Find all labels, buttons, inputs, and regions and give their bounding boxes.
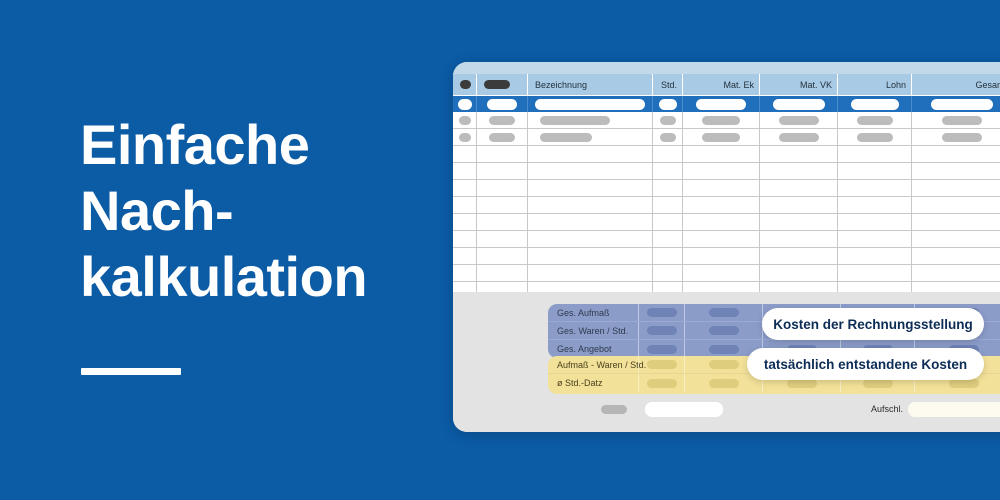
cell-empty[interactable] — [653, 180, 683, 197]
summary-row-label: Ges. Aufmaß — [548, 308, 638, 318]
cell-empty[interactable] — [760, 265, 838, 282]
card-top-strip — [453, 62, 1000, 74]
page-title: Einfache Nach- kalkulation — [80, 112, 430, 310]
cell-empty[interactable] — [477, 214, 528, 231]
selected-cell-mat-vk[interactable] — [760, 96, 838, 112]
table-row-empty[interactable] — [453, 248, 1000, 265]
cell-value-placeholder — [660, 116, 676, 125]
callout-invoicing-costs: Kosten der Rechnungsstellung — [762, 308, 984, 340]
summary-cell-mat-ek[interactable] — [684, 304, 762, 321]
cell-empty[interactable] — [683, 214, 760, 231]
header-cell-icon-sm[interactable] — [453, 74, 477, 96]
cell-icon-sm[interactable] — [453, 112, 477, 129]
row-handle-pill-icon — [484, 80, 510, 89]
table-row-empty[interactable] — [453, 163, 1000, 180]
cell-mat-vk[interactable] — [760, 112, 838, 129]
cell-value-placeholder — [660, 133, 676, 142]
cell-value-placeholder — [459, 133, 471, 142]
cell-value-placeholder — [489, 133, 515, 142]
cell-empty[interactable] — [912, 146, 1000, 163]
cell-empty[interactable] — [760, 180, 838, 197]
cell-empty[interactable] — [683, 248, 760, 265]
title-underline-rule — [81, 368, 181, 375]
cell-value-placeholder — [942, 133, 982, 142]
selected-cell-icon-lg[interactable] — [477, 96, 528, 112]
cell-empty[interactable] — [760, 163, 838, 180]
surcharge-input[interactable] — [908, 402, 1000, 417]
cell-empty[interactable] — [477, 180, 528, 197]
header-cell-gesamt[interactable]: Gesamt — [912, 74, 1000, 96]
cell-value-placeholder — [647, 345, 677, 354]
summary-cell-std[interactable] — [638, 356, 684, 373]
table-row-empty[interactable] — [453, 265, 1000, 282]
cell-mat-ek[interactable] — [683, 112, 760, 129]
cell-empty[interactable] — [760, 197, 838, 214]
cell-empty[interactable] — [760, 214, 838, 231]
cell-value-placeholder — [851, 99, 899, 110]
selected-cell-bezeichnung[interactable] — [528, 96, 653, 112]
cell-empty[interactable] — [453, 180, 477, 197]
cell-empty[interactable] — [838, 163, 912, 180]
cell-empty[interactable] — [760, 231, 838, 248]
cell-empty[interactable] — [838, 231, 912, 248]
spreadsheet-table: Bezeichnung Std. Mat. Ek Mat. VK Lohn Ge… — [453, 74, 1000, 292]
cell-value-placeholder — [942, 116, 982, 125]
summary-cell-std[interactable] — [638, 374, 684, 392]
cell-empty[interactable] — [653, 146, 683, 163]
cell-lohn[interactable] — [838, 129, 912, 146]
cell-empty[interactable] — [912, 180, 1000, 197]
cell-empty[interactable] — [912, 265, 1000, 282]
cell-empty[interactable] — [653, 248, 683, 265]
table-row-empty[interactable] — [453, 180, 1000, 197]
cell-value-placeholder — [773, 99, 825, 110]
cell-value-placeholder — [709, 379, 739, 388]
cell-empty[interactable] — [477, 265, 528, 282]
cell-value-placeholder — [489, 116, 515, 125]
cell-value-placeholder — [535, 99, 645, 110]
cell-bezeichnung[interactable] — [528, 112, 653, 129]
cell-empty[interactable] — [912, 197, 1000, 214]
selected-cell-icon-sm[interactable] — [453, 96, 477, 112]
cell-value-placeholder — [709, 345, 739, 354]
cell-empty[interactable] — [477, 231, 528, 248]
cell-empty[interactable] — [477, 248, 528, 265]
cell-icon-lg[interactable] — [477, 129, 528, 146]
cell-empty[interactable] — [683, 231, 760, 248]
surcharge-label: Aufschl. — [871, 404, 903, 414]
cell-empty[interactable] — [528, 231, 653, 248]
cell-value-placeholder — [647, 326, 677, 335]
cell-empty[interactable] — [453, 265, 477, 282]
cell-empty[interactable] — [528, 197, 653, 214]
cell-value-placeholder — [857, 133, 893, 142]
cell-empty[interactable] — [838, 146, 912, 163]
bottom-value-placeholder — [601, 405, 627, 414]
cell-empty[interactable] — [453, 214, 477, 231]
selected-cell-gesamt[interactable] — [912, 96, 1000, 112]
bottom-total-field[interactable] — [645, 402, 723, 417]
slide-canvas: Einfache Nach- kalkulation Bezeichnung S… — [0, 0, 1000, 500]
cell-bezeichnung[interactable] — [528, 129, 653, 146]
cell-value-placeholder — [702, 116, 740, 125]
cell-empty[interactable] — [760, 248, 838, 265]
cell-empty[interactable] — [477, 197, 528, 214]
cell-empty[interactable] — [683, 180, 760, 197]
cell-empty[interactable] — [653, 265, 683, 282]
cell-empty[interactable] — [453, 197, 477, 214]
summary-row-label: ø Std.-Datz — [548, 378, 638, 388]
cell-empty[interactable] — [838, 197, 912, 214]
cell-empty[interactable] — [528, 163, 653, 180]
cell-empty[interactable] — [838, 214, 912, 231]
cell-empty[interactable] — [528, 146, 653, 163]
header-cell-icon-lg[interactable] — [477, 74, 528, 96]
summary-row-label: Aufmaß - Waren / Std. — [548, 360, 638, 370]
cell-empty[interactable] — [683, 163, 760, 180]
cell-value-placeholder — [459, 116, 471, 125]
table-row[interactable] — [453, 112, 1000, 129]
table-row-empty[interactable] — [453, 231, 1000, 248]
cell-empty[interactable] — [453, 163, 477, 180]
cell-empty[interactable] — [683, 146, 760, 163]
header-cell-lohn[interactable]: Lohn — [838, 74, 912, 96]
summary-row-label: Ges. Waren / Std. — [548, 326, 638, 336]
cell-empty[interactable] — [528, 265, 653, 282]
cell-value-placeholder — [779, 133, 819, 142]
table-row[interactable] — [453, 129, 1000, 146]
selected-cell-std[interactable] — [653, 96, 683, 112]
summary-cell-std[interactable] — [638, 322, 684, 339]
cell-empty[interactable] — [653, 197, 683, 214]
cell-std[interactable] — [653, 129, 683, 146]
cell-empty[interactable] — [453, 146, 477, 163]
cell-empty[interactable] — [912, 231, 1000, 248]
cell-empty[interactable] — [653, 163, 683, 180]
table-header-row: Bezeichnung Std. Mat. Ek Mat. VK Lohn Ge… — [453, 74, 1000, 96]
cell-lohn[interactable] — [838, 112, 912, 129]
cell-empty[interactable] — [653, 214, 683, 231]
cell-empty[interactable] — [528, 180, 653, 197]
cell-value-placeholder — [702, 133, 740, 142]
cell-mat-ek[interactable] — [683, 129, 760, 146]
selected-cell-lohn[interactable] — [838, 96, 912, 112]
cell-mat-vk[interactable] — [760, 129, 838, 146]
cell-empty[interactable] — [477, 146, 528, 163]
selected-row[interactable] — [453, 96, 1000, 112]
cell-value-placeholder — [709, 360, 739, 369]
cell-empty[interactable] — [912, 163, 1000, 180]
cell-value-placeholder — [647, 379, 677, 388]
cell-empty[interactable] — [653, 231, 683, 248]
cell-empty[interactable] — [683, 265, 760, 282]
row-marker-pill-icon — [460, 80, 471, 89]
cell-value-placeholder — [647, 308, 677, 317]
cell-gesamt[interactable] — [912, 112, 1000, 129]
cell-gesamt[interactable] — [912, 129, 1000, 146]
table-row-empty[interactable] — [453, 214, 1000, 231]
cell-value-placeholder — [709, 308, 739, 317]
header-cell-mat-vk[interactable]: Mat. VK — [760, 74, 838, 96]
cell-empty[interactable] — [838, 248, 912, 265]
cell-empty[interactable] — [838, 265, 912, 282]
selected-cell-mat-ek[interactable] — [683, 96, 760, 112]
cell-value-placeholder — [659, 99, 677, 110]
cell-std[interactable] — [653, 112, 683, 129]
header-cell-std[interactable]: Std. — [653, 74, 683, 96]
cell-icon-lg[interactable] — [477, 112, 528, 129]
table-row-empty[interactable] — [453, 146, 1000, 163]
cell-empty[interactable] — [683, 197, 760, 214]
summary-cell-std[interactable] — [638, 304, 684, 321]
header-cell-bezeichnung[interactable]: Bezeichnung — [528, 74, 653, 96]
cell-value-placeholder — [540, 116, 610, 125]
cell-value-placeholder — [709, 326, 739, 335]
cell-value-placeholder — [696, 99, 746, 110]
callout-actual-costs: tatsächlich entstandene Kosten — [747, 348, 984, 380]
cell-empty[interactable] — [760, 146, 838, 163]
cell-value-placeholder — [647, 360, 677, 369]
cell-value-placeholder — [779, 116, 819, 125]
table-row-empty[interactable] — [453, 197, 1000, 214]
cell-empty[interactable] — [838, 180, 912, 197]
cell-value-placeholder — [458, 99, 472, 110]
summary-cell-mat-ek[interactable] — [684, 374, 762, 392]
cell-empty[interactable] — [453, 231, 477, 248]
cell-empty[interactable] — [453, 248, 477, 265]
summary-cell-mat-ek[interactable] — [684, 322, 762, 339]
cell-value-placeholder — [487, 99, 517, 110]
cell-empty[interactable] — [528, 248, 653, 265]
cell-value-placeholder — [931, 99, 993, 110]
cell-icon-sm[interactable] — [453, 129, 477, 146]
summary-bottom-row: Aufschl. — [453, 402, 1000, 420]
cell-value-placeholder — [857, 116, 893, 125]
cell-empty[interactable] — [528, 214, 653, 231]
header-cell-mat-ek[interactable]: Mat. Ek — [683, 74, 760, 96]
summary-row-label: Ges. Angebot — [548, 344, 638, 354]
cell-value-placeholder — [540, 133, 592, 142]
cell-empty[interactable] — [912, 214, 1000, 231]
cell-empty[interactable] — [477, 163, 528, 180]
cell-empty[interactable] — [912, 248, 1000, 265]
